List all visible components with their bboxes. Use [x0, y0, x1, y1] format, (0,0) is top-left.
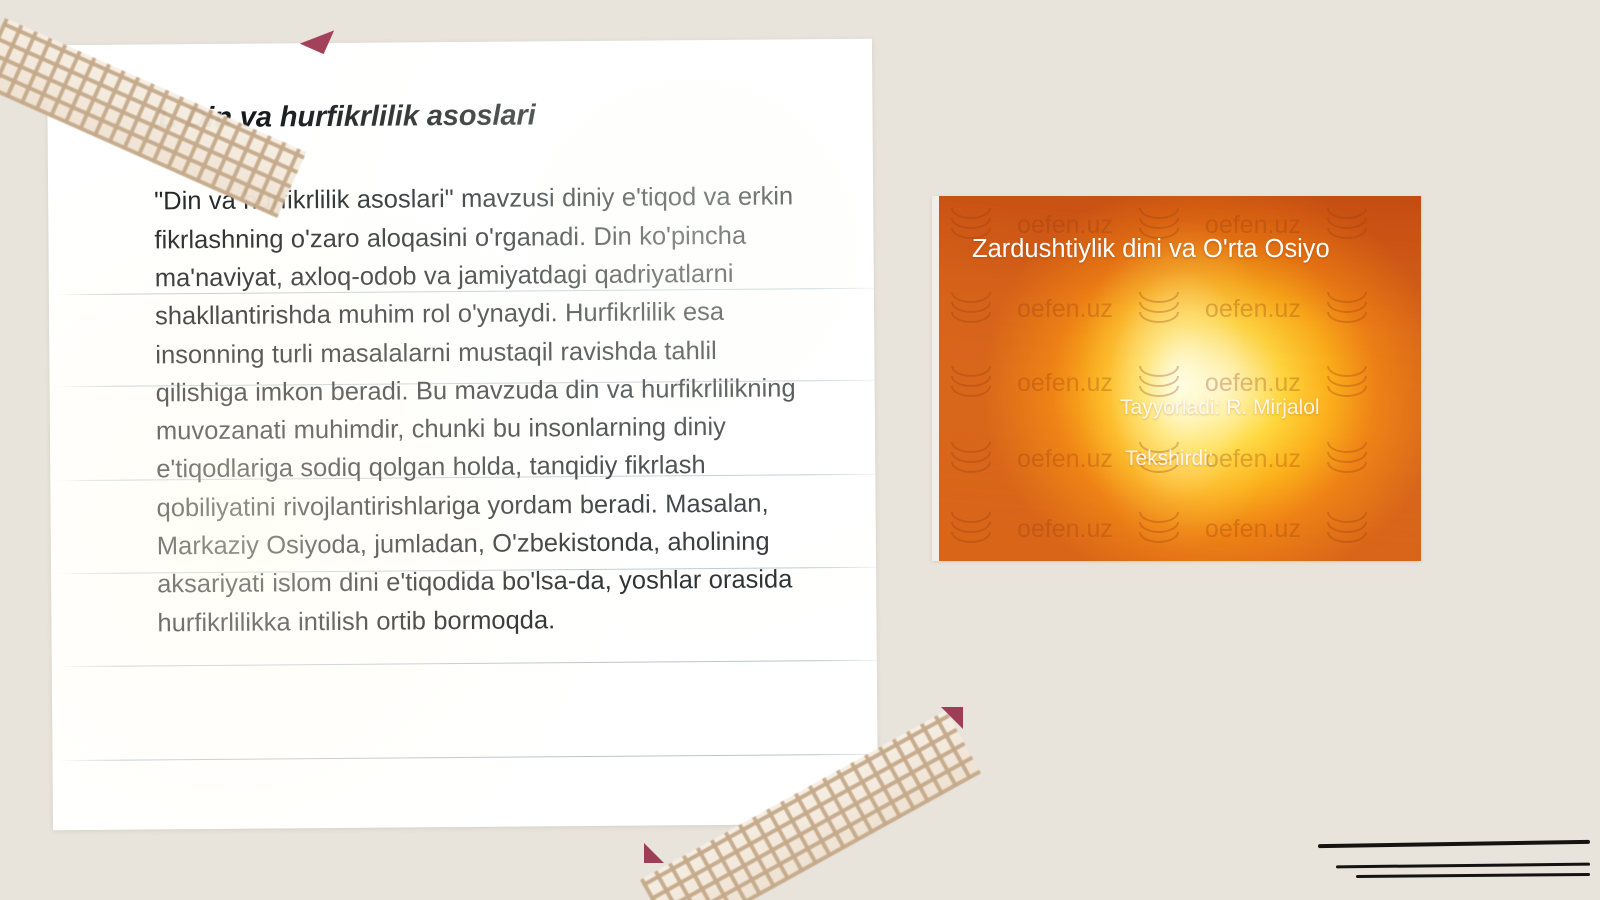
- layered-stack-icon: [1327, 442, 1367, 476]
- ink-stroke: [1318, 840, 1590, 848]
- layered-stack-icon: [1139, 512, 1179, 546]
- title-slide-image: oefen.uz oefen.uz oefen.uz oefen.uz oefe…: [939, 196, 1421, 561]
- ink-stroke: [1356, 873, 1590, 878]
- watermark-row: oefen.uz oefen.uz: [939, 292, 1421, 326]
- watermark-text: oefen.uz: [1017, 369, 1113, 398]
- radial-glow: [1080, 221, 1280, 551]
- rule-line: [59, 754, 878, 761]
- ink-stroke-group: [1318, 828, 1590, 882]
- watermark-text: oefen.uz: [1017, 445, 1113, 474]
- watermark-row: oefen.uz oefen.uz: [939, 512, 1421, 546]
- rule-line: [58, 660, 877, 667]
- layered-stack-icon: [951, 442, 991, 476]
- watermark-text: oefen.uz: [1017, 295, 1113, 324]
- watermark-text: oefen.uz: [1205, 295, 1301, 324]
- ink-stroke: [1336, 863, 1590, 869]
- layered-stack-icon: [951, 292, 991, 326]
- picture-frame[interactable]: oefen.uz oefen.uz oefen.uz oefen.uz oefe…: [932, 196, 1421, 561]
- slide-canvas: 1. Din va hurfikrlilik asoslari "Din va …: [0, 0, 1600, 900]
- picture-heading: Zardushtiylik dini va O'rta Osiyo: [972, 232, 1392, 266]
- watermark-text: oefen.uz: [1205, 369, 1301, 398]
- layered-stack-icon: [1139, 366, 1179, 400]
- watermark-text: oefen.uz: [1205, 445, 1301, 474]
- washi-tape-tip: [941, 707, 963, 729]
- layered-stack-icon: [1139, 292, 1179, 326]
- layered-stack-icon: [1327, 366, 1367, 400]
- watermark-text: oefen.uz: [1205, 515, 1301, 544]
- watermark-row: oefen.uz oefen.uz: [939, 366, 1421, 400]
- slide-body-paragraph: "Din va hurfikrlilik asoslari" mavzusi d…: [154, 178, 818, 643]
- layered-stack-icon: [951, 512, 991, 546]
- layered-stack-icon: [1327, 292, 1367, 326]
- washi-tape-tip: [644, 843, 664, 863]
- layered-stack-icon: [951, 366, 991, 400]
- picture-author-line: Tayyorladi: R. Mirjalol: [1120, 396, 1320, 420]
- layered-stack-icon: [1327, 512, 1367, 546]
- watermark-text: oefen.uz: [1017, 515, 1113, 544]
- picture-reviewer-line: Tekshirdi:: [1125, 447, 1214, 471]
